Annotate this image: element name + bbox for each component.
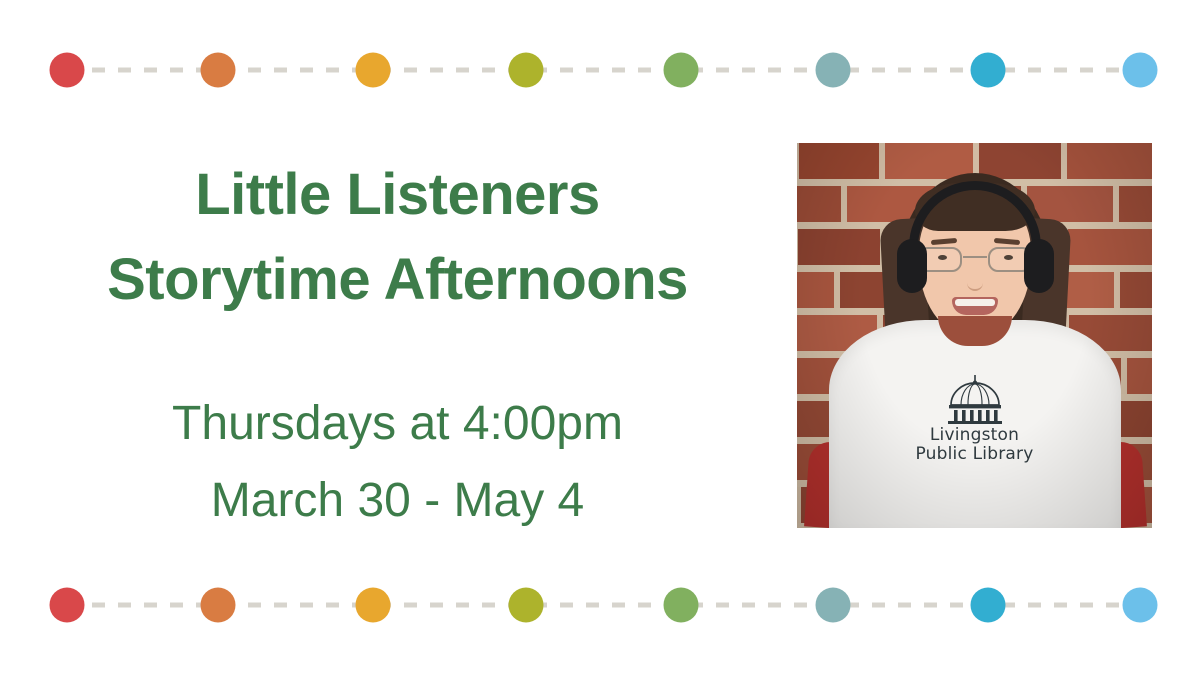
dot-olive	[509, 53, 544, 88]
event-poster: Little Listeners Storytime Afternoons Th…	[0, 0, 1200, 675]
dot-slate-teal	[816, 588, 851, 623]
dot-olive	[509, 588, 544, 623]
dot-red	[50, 588, 85, 623]
librarian-photo: Livingston Public Library	[797, 143, 1152, 528]
event-date-range: March 30 - May 4	[172, 462, 623, 540]
dot-orange	[201, 588, 236, 623]
event-schedule-time: Thursdays at 4:00pm	[172, 385, 623, 463]
dot-orange	[201, 53, 236, 88]
event-details: Thursdays at 4:00pm March 30 - May 4	[172, 385, 623, 541]
dot-amber	[356, 588, 391, 623]
page-title-line-1: Little Listeners	[195, 152, 600, 237]
dot-blue	[971, 53, 1006, 88]
poster-text-block: Little Listeners Storytime Afternoons Th…	[0, 140, 795, 540]
divider-top	[0, 47, 1200, 93]
divider-bottom	[0, 582, 1200, 628]
dot-slate-teal	[816, 53, 851, 88]
dot-red	[50, 53, 85, 88]
dot-blue	[971, 588, 1006, 623]
dot-light-blue	[1123, 588, 1158, 623]
photo-vignette	[797, 143, 1152, 528]
dot-green	[664, 588, 699, 623]
dot-green	[664, 53, 699, 88]
page-title-line-2: Storytime Afternoons	[107, 237, 688, 322]
dot-light-blue	[1123, 53, 1158, 88]
dot-amber	[356, 53, 391, 88]
